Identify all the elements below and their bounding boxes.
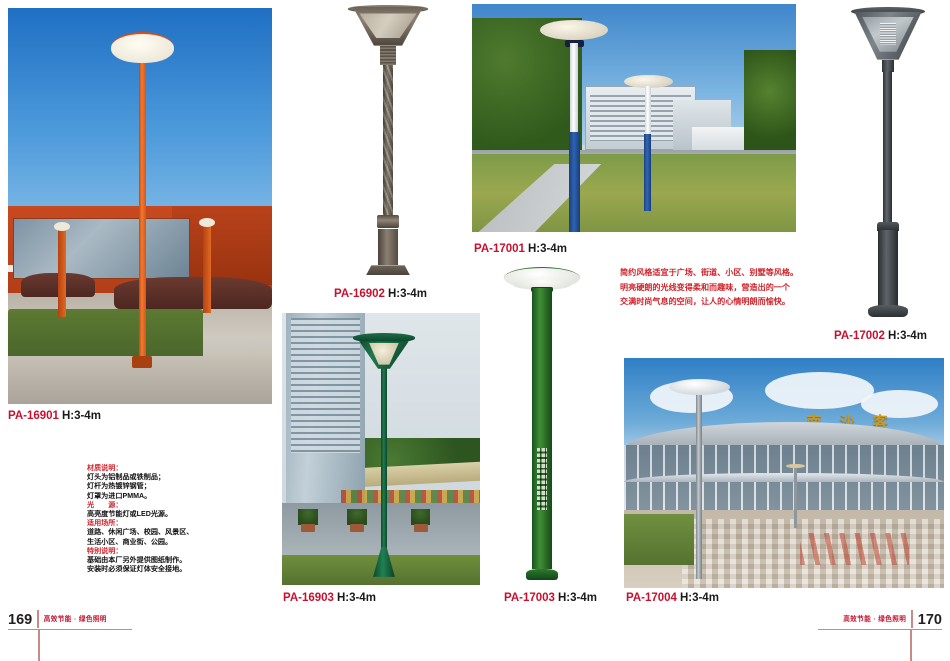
marketing-line: 明亮硬朗的光线变得柔和而趣味，营造出的一个 bbox=[620, 281, 832, 296]
spec-line: 安装时必须保证灯体安全接地。 bbox=[87, 565, 267, 574]
page-number-left: 169 bbox=[8, 612, 32, 628]
product-height: H:3-4m bbox=[337, 592, 376, 604]
product-code: PA-17004 bbox=[626, 592, 677, 604]
product-code: PA-17001 bbox=[474, 243, 525, 255]
footer-left-row: 169 高效节能 · 绿色照明 bbox=[8, 610, 132, 628]
product-photo-pa-17001 bbox=[472, 4, 796, 232]
grey-lamp-pole bbox=[696, 390, 702, 579]
caption-pa-17003: PA-17003H:3-4m bbox=[504, 592, 597, 604]
tree-cluster-right bbox=[744, 50, 796, 155]
background-lamp-post-1 bbox=[58, 230, 66, 317]
spec-line: 基础由本厂另外提供图纸制作。 bbox=[87, 556, 267, 565]
product-height: H:3-4m bbox=[558, 592, 597, 604]
cloud-2 bbox=[765, 372, 874, 409]
lamp-reflector bbox=[880, 23, 896, 45]
spec-group-light-source: 光 源： 高亮度节能灯或LED光源。 bbox=[87, 501, 267, 519]
photo-scene-campus-lawn bbox=[472, 4, 796, 232]
caption-pa-16903: PA-16903H:3-4m bbox=[283, 592, 376, 604]
spec-group-notes: 特别说明： 基础由本厂另外提供图纸制作。 安装时必须保证灯体安全接地。 bbox=[87, 547, 267, 575]
product-height: H:3-4m bbox=[388, 288, 427, 300]
dark-pole bbox=[883, 71, 893, 224]
illuminated-window-grid bbox=[537, 448, 547, 510]
caption-pa-17004: PA-17004H:3-4m bbox=[626, 592, 719, 604]
product-code: PA-16901 bbox=[8, 410, 59, 422]
pole-twist-pattern bbox=[383, 65, 393, 218]
photo-scene-outdoor-plaza bbox=[8, 8, 272, 404]
planter-pot-2 bbox=[350, 524, 364, 532]
planter-plant-3 bbox=[411, 509, 431, 525]
pole-foot-base bbox=[868, 305, 908, 318]
planter-pot-3 bbox=[414, 524, 428, 532]
page-number-right: 170 bbox=[918, 612, 942, 628]
far-lamp-blue-base bbox=[644, 134, 651, 212]
catalog-page: PA-16901H:3-4m PA-16902H:3-4m bbox=[0, 0, 950, 654]
caption-pa-17002: PA-17002H:3-4m bbox=[834, 330, 927, 342]
planter-plant-1 bbox=[298, 509, 318, 525]
purple-shrub-right bbox=[114, 277, 272, 309]
footer-divider bbox=[37, 610, 39, 628]
product-photo-pa-16902 bbox=[333, 4, 443, 282]
pole-collar bbox=[377, 215, 399, 228]
caption-pa-16902: PA-16902H:3-4m bbox=[334, 288, 427, 300]
photo-scene-office-forecourt bbox=[282, 313, 480, 585]
footer-rule-right bbox=[818, 629, 942, 630]
photo-scene-terminal-plaza: 南 沙 客 bbox=[624, 358, 944, 588]
footer-left: 169 高效节能 · 绿色照明 bbox=[8, 610, 132, 630]
spec-group-applications: 适用场所： 道路、休闲广场、校园、风景区、 生活小区、商业街、公园。 bbox=[87, 519, 267, 547]
spec-line: 高亮度节能灯或LED光源。 bbox=[87, 510, 267, 519]
green-column bbox=[532, 288, 552, 568]
spec-line: 灯罩为进口PMMA。 bbox=[87, 492, 267, 501]
photo-scene-product-shot bbox=[333, 4, 443, 282]
background-lamp-post-2 bbox=[203, 226, 211, 313]
background-lamp-pole bbox=[794, 468, 797, 528]
product-height: H:3-4m bbox=[62, 410, 101, 422]
product-photo-pa-17002 bbox=[832, 4, 944, 322]
orange-lamp-pole bbox=[139, 48, 146, 365]
footer-vertical-rule-right bbox=[910, 629, 912, 661]
footer-divider bbox=[911, 610, 913, 628]
green-hedge bbox=[8, 309, 203, 360]
footer-right-row: 高效节能 · 绿色照明 170 bbox=[818, 610, 942, 628]
pole-lower-shaft bbox=[878, 230, 898, 306]
product-photo-pa-16903 bbox=[282, 313, 480, 585]
product-code: PA-16903 bbox=[283, 592, 334, 604]
near-lamp-blue-base bbox=[569, 132, 579, 232]
spec-heading: 材质说明： bbox=[87, 464, 267, 473]
photo-scene-product-shot bbox=[486, 259, 598, 585]
footer-rule-left bbox=[8, 629, 132, 630]
flower-bed bbox=[341, 490, 480, 504]
red-tile-pattern bbox=[800, 533, 909, 565]
lamp-pole-base bbox=[132, 356, 152, 368]
product-height: H:3-4m bbox=[680, 592, 719, 604]
spec-heading: 光 源： bbox=[87, 501, 267, 510]
product-code: PA-17002 bbox=[834, 330, 885, 342]
column-base bbox=[526, 569, 557, 580]
lantern-neck-rings bbox=[380, 46, 395, 65]
spec-group-material: 材质说明： 灯头为铝制品或铁制品； 灯杆为热镀锌钢管； 灯罩为进口PMMA。 bbox=[87, 464, 267, 501]
footer-vertical-rule-left bbox=[38, 629, 40, 661]
marketing-line: 简约风格适宜于广场、街道、小区、别墅等风格。 bbox=[620, 266, 832, 281]
caption-pa-16901: PA-16901H:3-4m bbox=[8, 410, 101, 422]
specification-text-block: 材质说明： 灯头为铝制品或铁制品； 灯杆为热镀锌钢管； 灯罩为进口PMMA。 光… bbox=[87, 464, 267, 574]
planter-pot-1 bbox=[301, 524, 315, 532]
spec-line: 道路、休闲广场、校园、风景区、 bbox=[87, 528, 267, 537]
mounting-base-plate bbox=[366, 265, 410, 275]
product-height: H:3-4m bbox=[528, 243, 567, 255]
lantern-top-rim bbox=[353, 333, 414, 342]
green-lamp-pole bbox=[381, 367, 387, 557]
glass-curtain-wall bbox=[13, 218, 189, 279]
marketing-paragraph: 简约风格适宜于广场、街道、小区、别墅等风格。 明亮硬朗的光线变得柔和而趣味，营造… bbox=[620, 266, 832, 310]
spec-heading: 特别说明： bbox=[87, 547, 267, 556]
pole-lower-shaft bbox=[378, 229, 398, 265]
lawn bbox=[624, 514, 694, 565]
product-photo-pa-16901 bbox=[8, 8, 272, 404]
footer-right: 高效节能 · 绿色照明 170 bbox=[818, 610, 942, 630]
product-photo-pa-17004: 南 沙 客 bbox=[624, 358, 944, 588]
product-photo-pa-17003 bbox=[486, 259, 598, 585]
white-disc-diffuser bbox=[669, 379, 730, 395]
planter-plant-2 bbox=[347, 509, 367, 525]
product-code: PA-17003 bbox=[504, 592, 555, 604]
footer-slogan: 高效节能 · 绿色照明 bbox=[44, 612, 107, 628]
marketing-line: 交满时尚气息的空间，让人的心情明朗而愉快。 bbox=[620, 295, 832, 310]
white-mushroom-diffuser bbox=[111, 32, 174, 64]
spec-line: 灯杆为热镀锌钢管； bbox=[87, 482, 267, 491]
product-height: H:3-4m bbox=[888, 330, 927, 342]
footer-slogan: 高效节能 · 绿色照明 bbox=[843, 612, 906, 628]
caption-pa-17001: PA-17001H:3-4m bbox=[474, 243, 567, 255]
photo-scene-product-shot bbox=[832, 4, 944, 322]
product-code: PA-16902 bbox=[334, 288, 385, 300]
spec-line: 生活小区、商业街、公园。 bbox=[87, 538, 267, 547]
